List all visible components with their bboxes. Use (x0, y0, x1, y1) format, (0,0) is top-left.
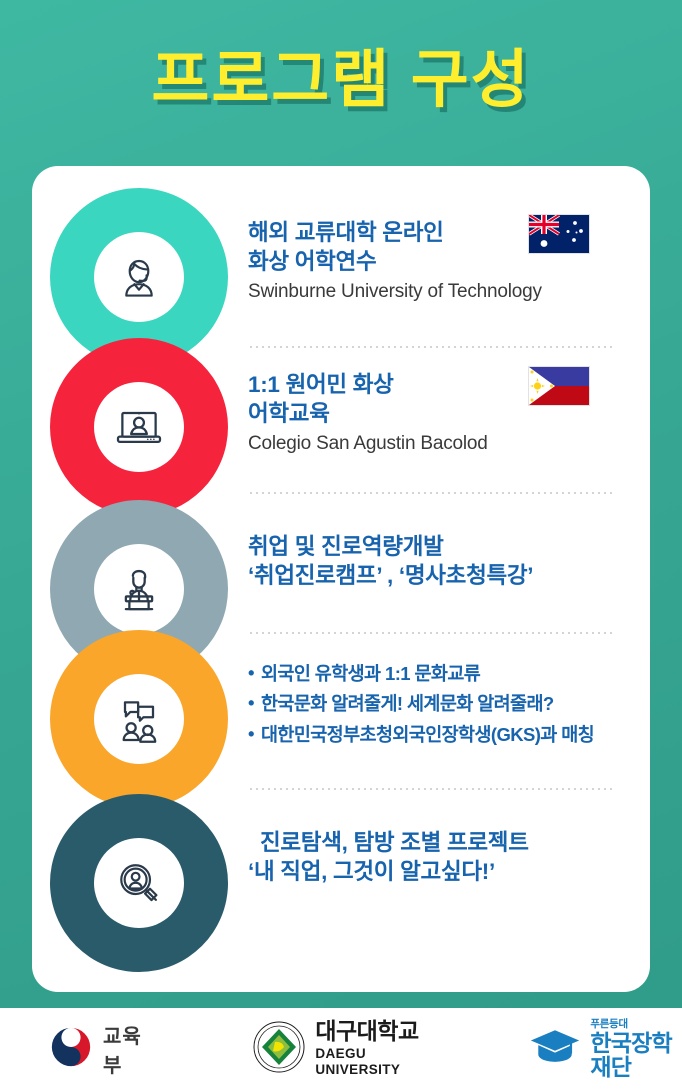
ring-hole-3 (94, 544, 184, 634)
program-icon-circle-2 (50, 338, 228, 516)
program-text-3: 취업 및 진로역량개발 ‘취업진로캠프’ , ‘명사초청특강’ (248, 532, 644, 591)
program-heading-3-line1: 취업 및 진로역량개발 (248, 532, 644, 561)
logo-text-kosaf: 푸른등대 한국장학재단 (590, 1019, 682, 1080)
logo-label-daegu-kr: 대구대학교 (315, 1018, 418, 1044)
graduation-cap-icon (529, 1026, 581, 1073)
ring-hole-1 (94, 232, 184, 322)
program-text-5: 진로탐색, 탐방 조별 프로젝트 ‘내 직업, 그것이 알고싶다!’ (248, 828, 644, 887)
logo-kosaf: 푸른등대 한국장학재단 (529, 1019, 682, 1080)
people-chat-icon (111, 691, 167, 747)
logo-text-daegu: 대구대학교 DAEGU UNIVERSITY (315, 1020, 421, 1078)
program-heading-5-line2: ‘내 직업, 그것이 알고싶다!’ (248, 857, 644, 886)
logo-label-daegu-en: DAEGU UNIVERSITY (315, 1046, 421, 1078)
podium-speaker-icon (111, 561, 167, 617)
ring-hole-5 (94, 838, 184, 928)
philippines-flag (528, 366, 590, 406)
program-text-4: 외국인 유학생과 1:1 문화교류 한국문화 알려줄게! 세계문화 알려줄래? … (248, 662, 644, 753)
row-separator-1 (248, 346, 616, 348)
logo-label-kosaf-main: 한국장학재단 (590, 1031, 682, 1079)
program-subtitle-1: Swinburne University of Technology (248, 280, 644, 305)
list-item: 대한민국정부초청외국인장학생(GKS)과 매칭 (248, 723, 644, 747)
page-title: 프로그램 구성 (0, 47, 682, 113)
row-separator-4 (248, 788, 616, 790)
logo-daegu-university: 대구대학교 DAEGU UNIVERSITY (252, 1020, 421, 1079)
list-item: 한국문화 알려줄게! 세계문화 알려줄래? (248, 692, 644, 716)
program-bullet-list-4: 외국인 유학생과 1:1 문화교류 한국문화 알려줄게! 세계문화 알려줄래? … (248, 662, 644, 747)
logo-label-kosaf-small: 푸른등대 (590, 1019, 682, 1030)
ring-hole-2 (94, 382, 184, 472)
logo-label-moe: 교육부 (103, 1020, 142, 1078)
laptop-video-call-icon (111, 399, 167, 455)
sponsor-footer: 교육부 대구대학교 DAEGU UNIVERSITY 푸른등대 (0, 1008, 682, 1090)
ring-hole-4 (94, 674, 184, 764)
row-separator-3 (248, 632, 616, 634)
magnifier-person-icon (112, 856, 166, 910)
headset-person-icon (112, 250, 166, 304)
program-heading-5-line1: 진로탐색, 탐방 조별 프로젝트 (248, 828, 644, 857)
program-icon-circle-5 (50, 794, 228, 972)
program-heading-3-line2: ‘취업진로캠프’ , ‘명사초청특강’ (248, 561, 644, 590)
list-item: 외국인 유학생과 1:1 문화교류 (248, 662, 644, 686)
content-card: 해외 교류대학 온라인 화상 어학연수 Swinburne University… (32, 166, 650, 992)
program-subtitle-2: Colegio San Agustin Bacolod (248, 432, 644, 457)
row-separator-2 (248, 492, 616, 494)
australia-flag (528, 214, 590, 254)
korea-government-taegeuk-icon (48, 1024, 94, 1075)
logo-ministry-of-education: 교육부 (48, 1020, 142, 1078)
program-icon-circle-4 (50, 630, 228, 808)
daegu-university-emblem-icon (252, 1020, 306, 1079)
